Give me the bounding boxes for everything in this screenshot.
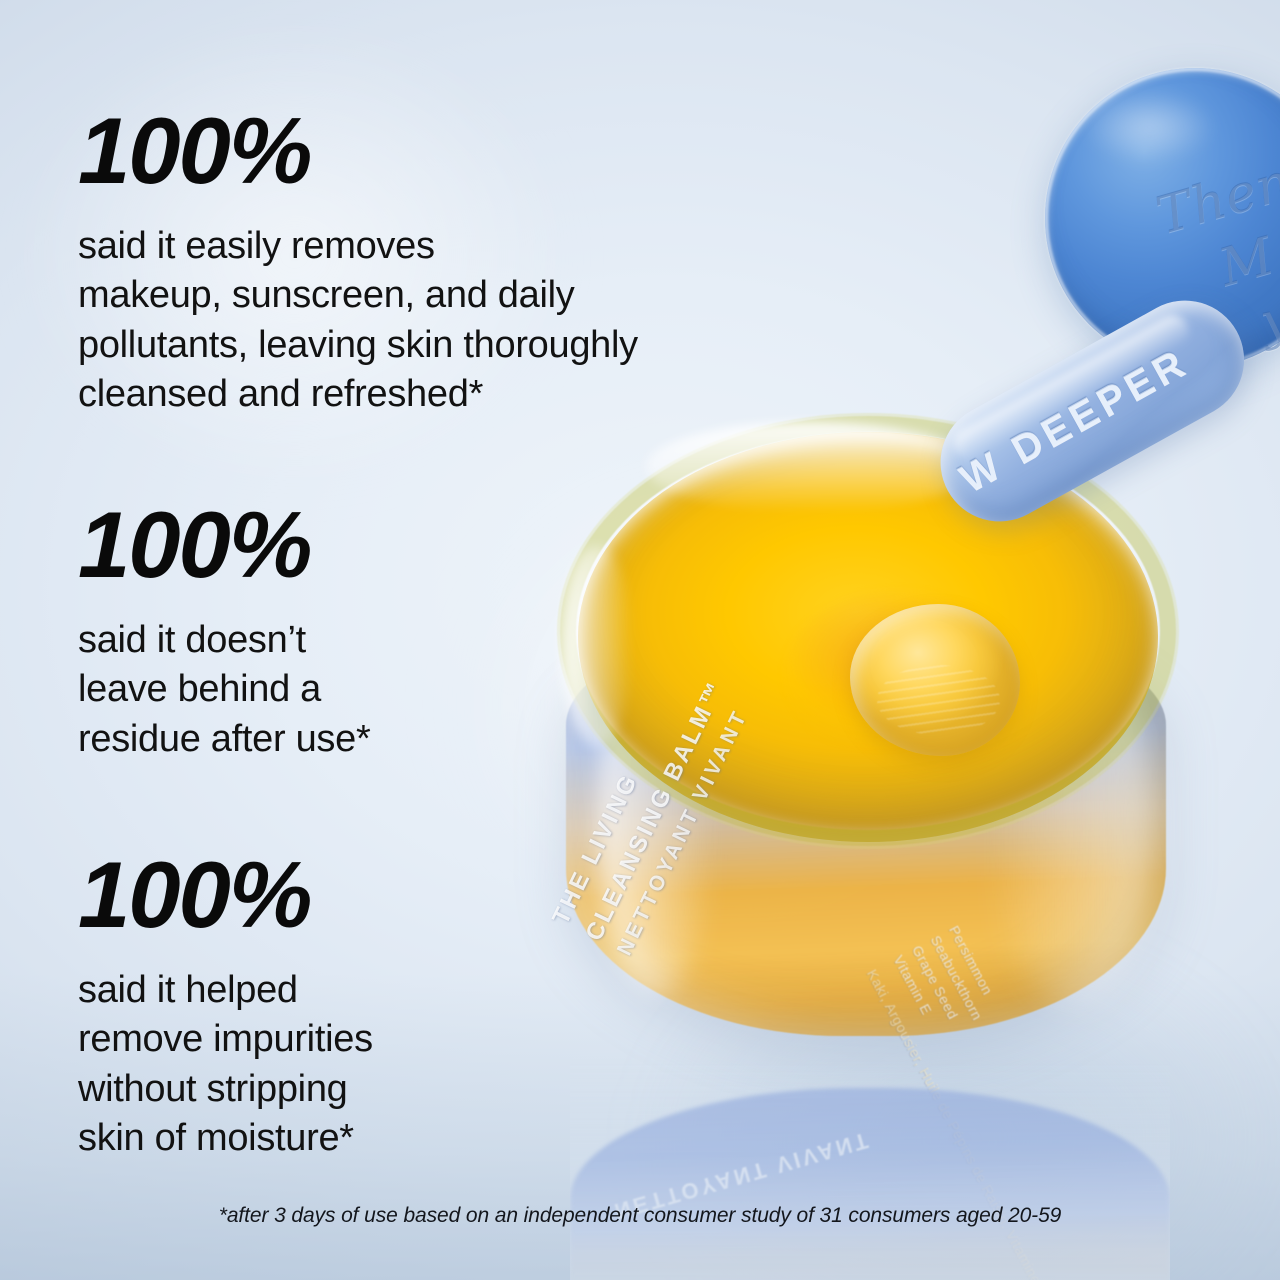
claim-3-body: said it helped remove impurities without… (78, 966, 373, 1164)
claim-block-2: 100% said it doesn’t leave behind a resi… (78, 498, 370, 764)
claim-3-stat: 100% (78, 848, 373, 942)
claim-1-stat: 100% (78, 104, 638, 198)
claim-block-3: 100% said it helped remove impurities wi… (78, 848, 373, 1164)
study-footnote: *after 3 days of use based on an indepen… (0, 1204, 1280, 1228)
claim-2-stat: 100% (78, 498, 370, 592)
claim-1-body: said it easily removes makeup, sunscreen… (78, 222, 638, 420)
claim-2-body: said it doesn’t leave behind a residue a… (78, 616, 370, 764)
claims-group: 100% said it easily removes makeup, suns… (0, 0, 1280, 1280)
claim-block-1: 100% said it easily removes makeup, suns… (78, 104, 638, 420)
